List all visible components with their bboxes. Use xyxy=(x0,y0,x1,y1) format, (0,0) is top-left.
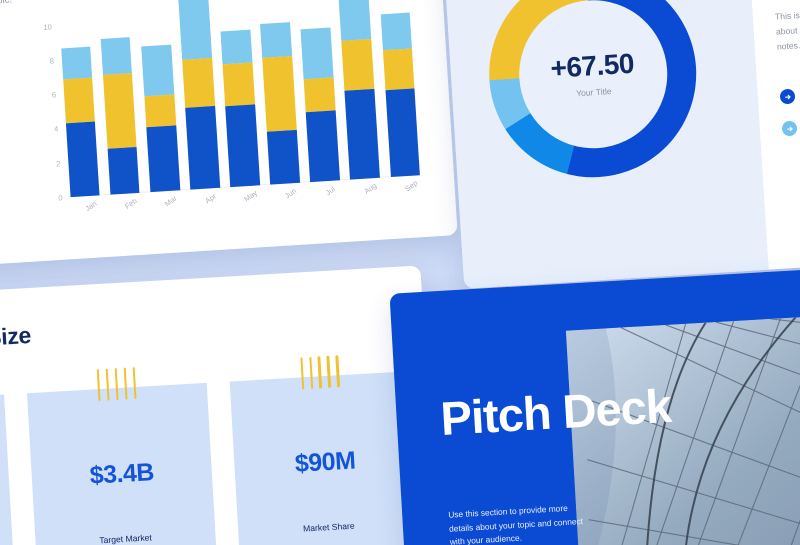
chart-bar-segment xyxy=(345,89,380,180)
donut-bullet-list: Target MarketDemand xyxy=(780,80,800,137)
donut-list-item[interactable]: Target Market xyxy=(780,80,800,105)
pitch-deck-paragraph: Use this section to provide more details… xyxy=(448,501,586,545)
traction-paragraph: This is a good place for you to provide … xyxy=(0,0,15,20)
slide-collage-canvas: This is a good place for you to provide … xyxy=(0,0,800,545)
chart-y-tick: 6 xyxy=(52,91,57,100)
chart-bar-segment xyxy=(260,22,291,58)
stacked-bar-chart: 02468101214 JanFebMarAprMayJunJulAugSep xyxy=(21,0,428,233)
chart-bar-segment xyxy=(263,56,297,131)
chart-bar[interactable] xyxy=(215,0,259,187)
donut-center: +67.50 Your Title xyxy=(514,0,671,152)
chart-bar[interactable] xyxy=(95,0,139,195)
donut-panel: +67.50 Your Title xyxy=(442,0,768,289)
donut-value: +67.50 xyxy=(550,48,635,85)
chart-bar-segment xyxy=(223,62,255,107)
chart-bar-segment xyxy=(301,28,333,79)
chart-plot-area xyxy=(56,0,420,197)
chart-bar-segment xyxy=(306,110,340,182)
market-size-cards: $12BTotal Addressable Market$3.4BTarget … xyxy=(0,371,421,545)
chart-bar-segment xyxy=(146,125,179,192)
chart-bar-segment xyxy=(225,105,259,187)
chart-y-tick: 0 xyxy=(58,193,63,202)
chart-bar-segment xyxy=(267,130,300,185)
market-size-card[interactable]: $3.4BTarget Market xyxy=(27,383,218,545)
slide-donut[interactable]: +67.50 Your Title Traction This is a goo… xyxy=(442,0,800,289)
market-size-label: Target Market xyxy=(46,528,205,545)
chart-bar-segment xyxy=(336,0,371,41)
chart-bar-segment xyxy=(221,30,252,64)
chart-bar-segment xyxy=(103,73,137,148)
chart-bar-segment xyxy=(342,39,374,90)
chart-bar[interactable] xyxy=(295,0,339,182)
chart-bar-segment xyxy=(101,37,133,75)
donut-label: Your Title xyxy=(576,86,612,98)
chart-bar[interactable] xyxy=(175,0,219,190)
chart-bars xyxy=(56,0,420,197)
donut-paragraph: This is a good place to provide details … xyxy=(775,0,800,54)
chart-bar-segment xyxy=(185,106,219,190)
market-size-title: Market Size xyxy=(0,322,32,356)
slide-traction[interactable]: This is a good place for you to provide … xyxy=(0,0,458,276)
chart-bar[interactable] xyxy=(375,0,419,177)
arrow-circle-icon xyxy=(780,89,796,105)
market-size-card[interactable]: $12BTotal Addressable Market xyxy=(0,395,14,545)
chart-bar-segment xyxy=(63,77,95,123)
market-size-label: Market Share xyxy=(249,516,408,538)
chart-bar-segment xyxy=(176,0,212,60)
chart-bar-segment xyxy=(380,13,412,51)
chart-y-tick: 8 xyxy=(49,56,54,65)
traction-text-block: This is a good place for you to provide … xyxy=(0,0,15,20)
chart-y-tick: 2 xyxy=(56,159,61,168)
slide-pitch-deck[interactable]: Pitch Deck Use this section to provide m… xyxy=(389,267,800,545)
chart-bar-segment xyxy=(182,58,214,108)
market-size-card[interactable]: $90MMarket Share xyxy=(230,371,421,545)
chart-bar-segment xyxy=(61,47,92,80)
chart-bar[interactable] xyxy=(255,0,299,185)
donut-chart: +67.50 Your Title xyxy=(483,0,703,184)
chart-y-tick: 4 xyxy=(54,125,59,134)
chart-bar-segment xyxy=(66,122,100,197)
arrow-circle-icon xyxy=(782,121,798,137)
paperclip-icon xyxy=(97,367,137,401)
market-size-value: $3.4B xyxy=(89,458,155,491)
chart-bar-segment xyxy=(382,49,414,90)
chart-y-tick: 10 xyxy=(43,22,52,32)
chart-bar-segment xyxy=(145,95,176,128)
chart-bar[interactable] xyxy=(135,0,179,192)
chart-bar-segment xyxy=(304,78,335,112)
chart-bar-segment xyxy=(385,88,420,177)
market-size-value: $90M xyxy=(294,447,356,479)
paperclip-icon xyxy=(300,355,340,389)
slide-market-size[interactable]: Market Size $12BTotal Addressable Market… xyxy=(0,265,439,545)
chart-bar-segment xyxy=(141,45,173,96)
market-size-label: Total Addressable Market xyxy=(0,540,2,545)
donut-list-item[interactable]: Demand xyxy=(782,112,800,137)
chart-bar[interactable] xyxy=(335,0,379,180)
